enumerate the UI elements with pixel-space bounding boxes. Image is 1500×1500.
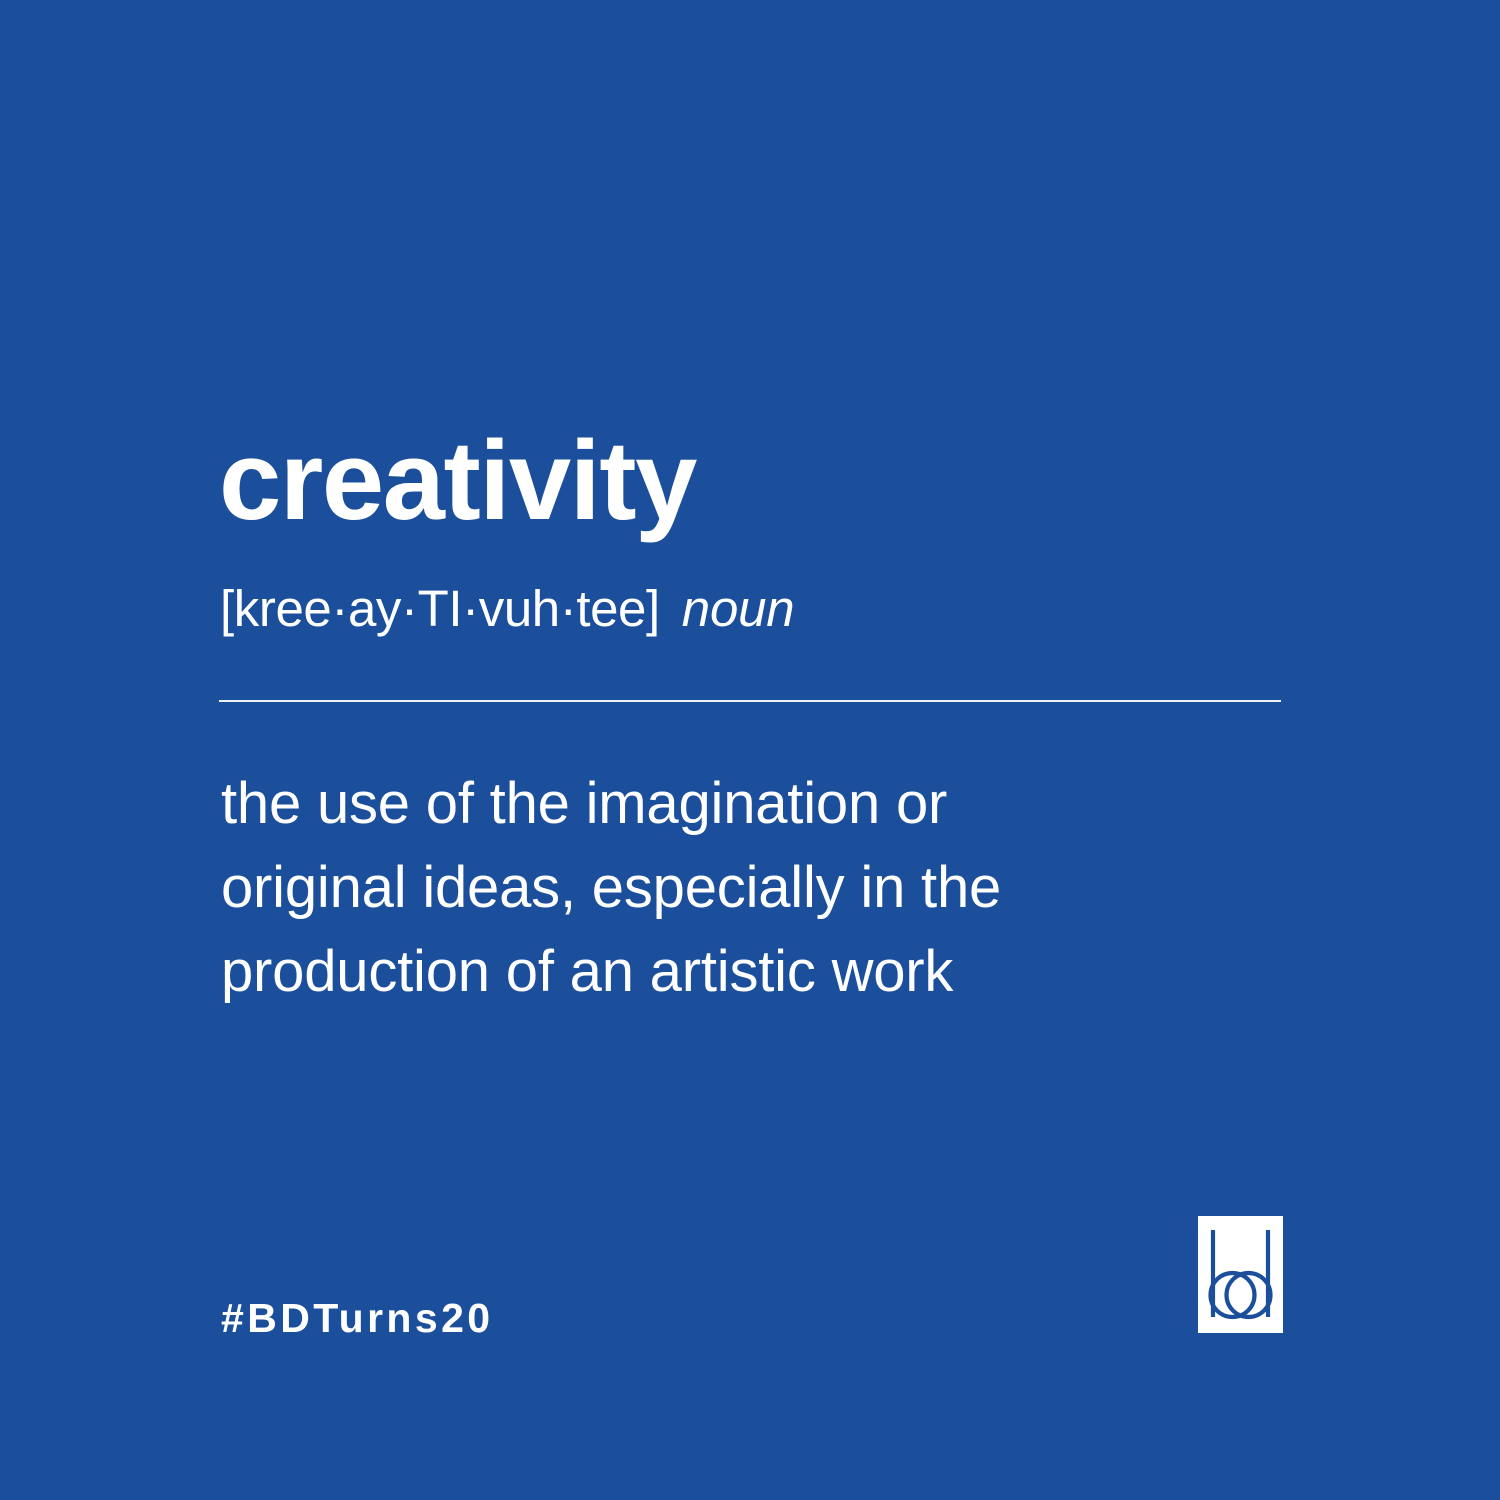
definition-text: the use of the imagination or original i… bbox=[221, 762, 1181, 1014]
part-of-speech-label: noun bbox=[682, 580, 795, 637]
definition-line-1: the use of the imagination or bbox=[221, 762, 1181, 846]
bd-monogram-icon bbox=[1198, 1216, 1283, 1333]
dictionary-definition-card: creativity [kree·ay·TI·vuh·tee]noun the … bbox=[0, 0, 1500, 1500]
campaign-hashtag: #BDTurns20 bbox=[221, 1298, 493, 1339]
bd-logo bbox=[1198, 1216, 1283, 1333]
pronunciation-row: [kree·ay·TI·vuh·tee]noun bbox=[220, 583, 794, 634]
definition-line-3: production of an artistic work bbox=[221, 930, 1181, 1014]
pronunciation-text: [kree·ay·TI·vuh·tee] bbox=[220, 580, 660, 637]
horizontal-divider bbox=[219, 700, 1281, 702]
definition-line-2: original ideas, especially in the bbox=[221, 846, 1181, 930]
page-title: creativity bbox=[219, 425, 696, 537]
